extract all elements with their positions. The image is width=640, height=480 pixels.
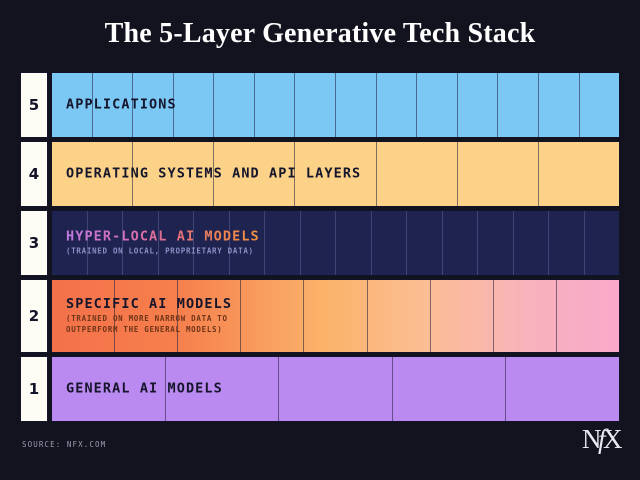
nfx-logo-x: X [603,424,622,454]
layer-segments-3 [52,211,619,275]
layer-segments-4 [52,142,619,206]
stack-layer-2[interactable]: 2 SPECIFIC AI MODELS (TRAINED ON MORE NA… [20,279,620,353]
source-caption: SOURCE: NFX.COM [22,440,106,449]
stack-layer-1[interactable]: 1 GENERAL AI MODELS [20,356,620,422]
layer-number-5: 5 [20,72,48,138]
layer-number-4: 4 [20,141,48,207]
layer-band-5: APPLICATIONS [51,72,620,138]
layer-band-2: SPECIFIC AI MODELS (TRAINED ON MORE NARR… [51,279,620,353]
nfx-logo: NfX [582,426,622,453]
layer-number-3: 3 [20,210,48,276]
layer-band-1: GENERAL AI MODELS [51,356,620,422]
page-title: The 5-Layer Generative Tech Stack [0,0,640,68]
layer-segments-5 [52,73,619,137]
tech-stack-diagram: 5 APPLICATIONS 4 OPERATING SYSTEMS AND A… [20,72,620,422]
footer: SOURCE: NFX.COM NfX [0,428,640,480]
stack-layer-4[interactable]: 4 OPERATING SYSTEMS AND API LAYERS [20,141,620,207]
layer-segments-1 [52,357,619,421]
layer-number-2: 2 [20,279,48,353]
stack-layer-5[interactable]: 5 APPLICATIONS [20,72,620,138]
layer-band-3: HYPER-LOCAL AI MODELS (TRAINED ON LOCAL,… [51,210,620,276]
stack-layer-3[interactable]: 3 HYPER-LOCAL AI MODELS (TRAINED ON LOCA… [20,210,620,276]
layer-segments-2 [52,280,619,352]
layer-number-1: 1 [20,356,48,422]
layer-band-4: OPERATING SYSTEMS AND API LAYERS [51,141,620,207]
